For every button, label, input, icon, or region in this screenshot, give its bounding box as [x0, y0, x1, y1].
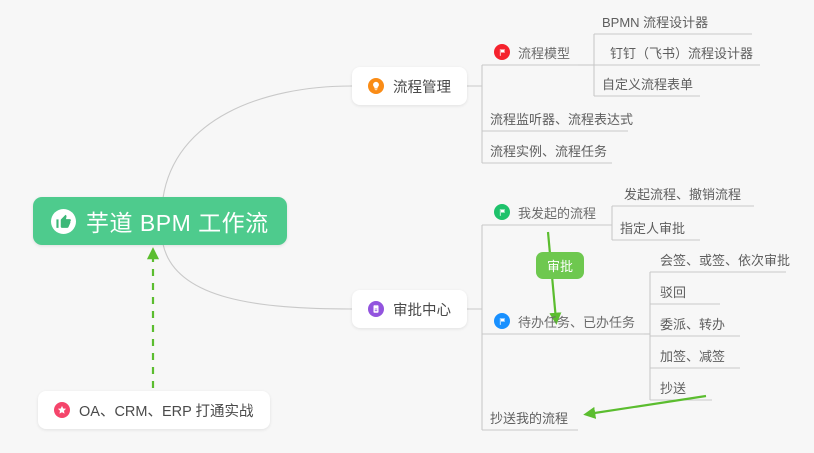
- child-label-process-model: 流程模型: [518, 43, 570, 62]
- child-label-todo-done-tasks: 待办任务、已办任务: [518, 312, 635, 331]
- leaf-node-dingtalk-designer[interactable]: 钉钉（飞书）流程设计器: [610, 39, 753, 65]
- lightbulb-icon: [368, 78, 384, 94]
- approval-badge[interactable]: 审批: [536, 252, 584, 279]
- child-node-cc-to-me[interactable]: 抄送我的流程: [490, 404, 568, 430]
- leaf-node-start-cancel-process[interactable]: 发起流程、撤销流程: [624, 180, 741, 206]
- flag-icon: [494, 204, 510, 220]
- leaf-label: 委派、转办: [660, 314, 725, 333]
- child-label: 流程实例、流程任务: [490, 141, 607, 160]
- child-node-todo-done-tasks[interactable]: 待办任务、已办任务: [494, 308, 635, 334]
- leaf-node-add-remove-sign[interactable]: 加签、减签: [660, 342, 725, 368]
- leaf-node-custom-form[interactable]: 自定义流程表单: [602, 70, 693, 96]
- flag-icon: [494, 313, 510, 329]
- leaf-label: 抄送: [660, 378, 686, 397]
- root-node[interactable]: 芋道 BPM 工作流: [33, 197, 287, 245]
- leaf-node-reject[interactable]: 驳回: [660, 278, 686, 304]
- cc-flow-arrow: [588, 396, 706, 414]
- branch-label-approval-center: 审批中心: [393, 299, 451, 320]
- branch-label-process-management: 流程管理: [393, 76, 451, 97]
- branch-node-approval-center[interactable]: 审批中心: [352, 290, 467, 328]
- leaf-node-cc[interactable]: 抄送: [660, 374, 686, 400]
- leaf-label: 会签、或签、依次审批: [660, 250, 790, 269]
- standalone-label: OA、CRM、ERP 打通实战: [79, 400, 254, 421]
- star-icon: [54, 402, 70, 418]
- approval-badge-label: 审批: [547, 256, 573, 275]
- child-node-process-instance[interactable]: 流程实例、流程任务: [490, 137, 607, 163]
- wire-root-to-process-management: [163, 86, 352, 198]
- child-node-process-model[interactable]: 流程模型: [494, 39, 570, 65]
- flag-icon: [494, 44, 510, 60]
- child-label: 流程监听器、流程表达式: [490, 109, 633, 128]
- leaf-label: 发起流程、撤销流程: [624, 184, 741, 203]
- leaf-label: 驳回: [660, 282, 686, 301]
- leaf-label: 加签、减签: [660, 346, 725, 365]
- child-node-process-listener[interactable]: 流程监听器、流程表达式: [490, 105, 633, 131]
- leaf-label: 指定人审批: [620, 218, 685, 237]
- child-node-my-initiated[interactable]: 我发起的流程: [494, 199, 596, 225]
- leaf-node-delegate-transfer[interactable]: 委派、转办: [660, 310, 725, 336]
- root-label: 芋道 BPM 工作流: [86, 204, 269, 238]
- clipboard-icon: [368, 301, 384, 317]
- mindmap-canvas: 芋道 BPM 工作流 流程管理 流程模型 BPMN 流程设计器 钉钉（飞书）流程…: [0, 0, 814, 453]
- leaf-label: 自定义流程表单: [602, 74, 693, 93]
- leaf-node-countersign[interactable]: 会签、或签、依次审批: [660, 246, 790, 272]
- child-label: 抄送我的流程: [490, 408, 568, 427]
- wire-root-to-approval-center: [163, 244, 352, 309]
- child-label-my-initiated: 我发起的流程: [518, 203, 596, 222]
- leaf-node-bpmn-designer[interactable]: BPMN 流程设计器: [602, 8, 708, 34]
- branch-node-process-management[interactable]: 流程管理: [352, 67, 467, 105]
- leaf-label: 钉钉（飞书）流程设计器: [610, 43, 753, 62]
- leaf-label: BPMN 流程设计器: [602, 12, 708, 31]
- standalone-node-integration[interactable]: OA、CRM、ERP 打通实战: [38, 391, 270, 429]
- thumbs-up-icon: [51, 209, 76, 234]
- leaf-node-assignee-approval[interactable]: 指定人审批: [620, 214, 685, 240]
